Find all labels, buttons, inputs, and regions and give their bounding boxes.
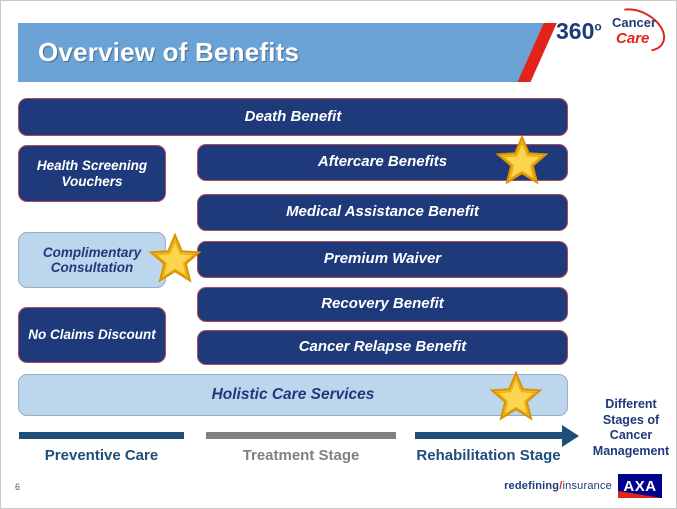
benefit-bar-holistic-care-services[interactable]: Holistic Care Services (18, 374, 568, 416)
logo-360-text: 360o (556, 18, 602, 45)
slide: Overview of Benefits 360o Cancer Care De… (0, 0, 677, 509)
axa-brand-mark: AXA (618, 474, 662, 498)
stage-bar-preventive (19, 432, 184, 439)
benefit-label: Complimentary Consultation (19, 245, 165, 275)
logo-degree: o (594, 19, 601, 33)
star-icon-aftercare (496, 135, 548, 185)
benefit-bar-recovery-benefit[interactable]: Recovery Benefit (197, 287, 568, 322)
logo-care-text: Care (616, 30, 649, 47)
star-icon-complimentary-consultation (149, 233, 201, 283)
brand-logo-360-cancer-care: 360o Cancer Care (556, 9, 668, 53)
axis-caption: Different Stages of Cancer Management (592, 397, 670, 460)
stage-bar-rehabilitation (415, 432, 562, 439)
benefit-label: Recovery Benefit (321, 296, 444, 313)
tagline-right: insurance (563, 480, 613, 492)
benefit-bar-no-claims-discount[interactable]: No Claims Discount (18, 307, 166, 363)
stage-label-preventive-care: Preventive Care (19, 447, 184, 464)
benefit-label: Premium Waiver (324, 251, 441, 268)
benefit-label: Cancer Relapse Benefit (299, 339, 467, 356)
tagline-left: redefining (504, 480, 559, 492)
page-number: 6 (15, 482, 20, 492)
logo-cancer-text: Cancer (612, 15, 656, 30)
benefit-label: Aftercare Benefits (318, 154, 447, 171)
benefit-bar-death-benefit[interactable]: Death Benefit (18, 98, 568, 136)
stage-arrow-head-icon (562, 425, 579, 447)
page-title: Overview of Benefits (38, 37, 299, 68)
benefit-bar-premium-waiver[interactable]: Premium Waiver (197, 241, 568, 278)
stage-label-rehabilitation-stage: Rehabilitation Stage (406, 447, 571, 464)
benefit-bar-health-screening-vouchers[interactable]: Health Screening Vouchers (18, 145, 166, 202)
benefit-bar-medical-assistance-benefit[interactable]: Medical Assistance Benefit (197, 194, 568, 231)
benefit-label: Medical Assistance Benefit (286, 204, 479, 221)
stage-label-treatment-stage: Treatment Stage (201, 447, 401, 464)
stage-bar-treatment (206, 432, 396, 439)
benefit-label: Death Benefit (245, 109, 342, 126)
benefit-bar-complimentary-consultation[interactable]: Complimentary Consultation (18, 232, 166, 288)
benefit-label: No Claims Discount (28, 327, 156, 342)
star-icon-holistic-care (490, 371, 542, 421)
axa-footer-logo: redefining/insurance AXA (504, 473, 662, 499)
benefit-bar-cancer-relapse-benefit[interactable]: Cancer Relapse Benefit (197, 330, 568, 365)
logo-number: 360 (556, 18, 594, 44)
axa-tagline: redefining/insurance (504, 480, 612, 492)
benefit-label: Health Screening Vouchers (19, 158, 165, 188)
benefit-label: Holistic Care Services (212, 386, 375, 403)
